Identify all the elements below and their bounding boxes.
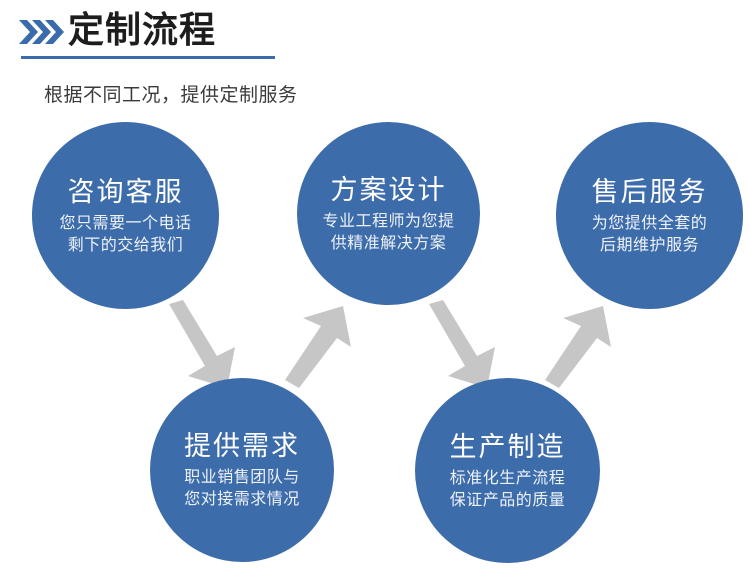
double-chevron-right-icon [18,18,64,46]
step-circle-requirements[interactable]: 提供需求 职业销售团队与 您对接需求情况 [150,378,334,562]
arrow-up-right-icon [545,300,635,390]
step-desc-line1: 标准化生产流程 [450,467,566,489]
page-title: 定制流程 [68,8,216,54]
arrow-down-right-icon [155,300,245,390]
step-title: 提供需求 [184,430,300,464]
step-desc-line2: 您对接需求情况 [184,488,300,510]
step-title: 生产制造 [450,431,566,465]
page-header: 定制流程 [0,0,750,62]
step-title: 方案设计 [331,174,447,208]
arrow-down-right-icon [415,300,505,390]
step-title: 售后服务 [592,176,708,210]
step-desc-line2: 后期维护服务 [600,234,699,256]
arrow-up-right-icon [285,300,375,390]
step-circle-design[interactable]: 方案设计 专业工程师为您提 供精准解决方案 [297,122,480,305]
step-desc-line2: 剩下的交给我们 [68,234,184,256]
step-circle-manufacturing[interactable]: 生产制造 标准化生产流程 保证产品的质量 [415,378,600,563]
step-circle-consult[interactable]: 咨询客服 您只需要一个电话 剩下的交给我们 [32,122,219,309]
step-desc-line1: 为您提供全套的 [592,212,708,234]
step-desc-line2: 保证产品的质量 [450,489,566,511]
step-desc-line1: 您只需要一个电话 [59,212,191,234]
step-circle-after-sales[interactable]: 售后服务 为您提供全套的 后期维护服务 [556,122,743,309]
title-underline [21,56,275,59]
step-desc-line1: 专业工程师为您提 [322,210,454,232]
page-subtitle: 根据不同工况，提供定制服务 [44,80,298,107]
step-title: 咨询客服 [68,176,184,210]
step-desc-line2: 供精准解决方案 [331,232,447,254]
step-desc-line1: 职业销售团队与 [184,466,300,488]
